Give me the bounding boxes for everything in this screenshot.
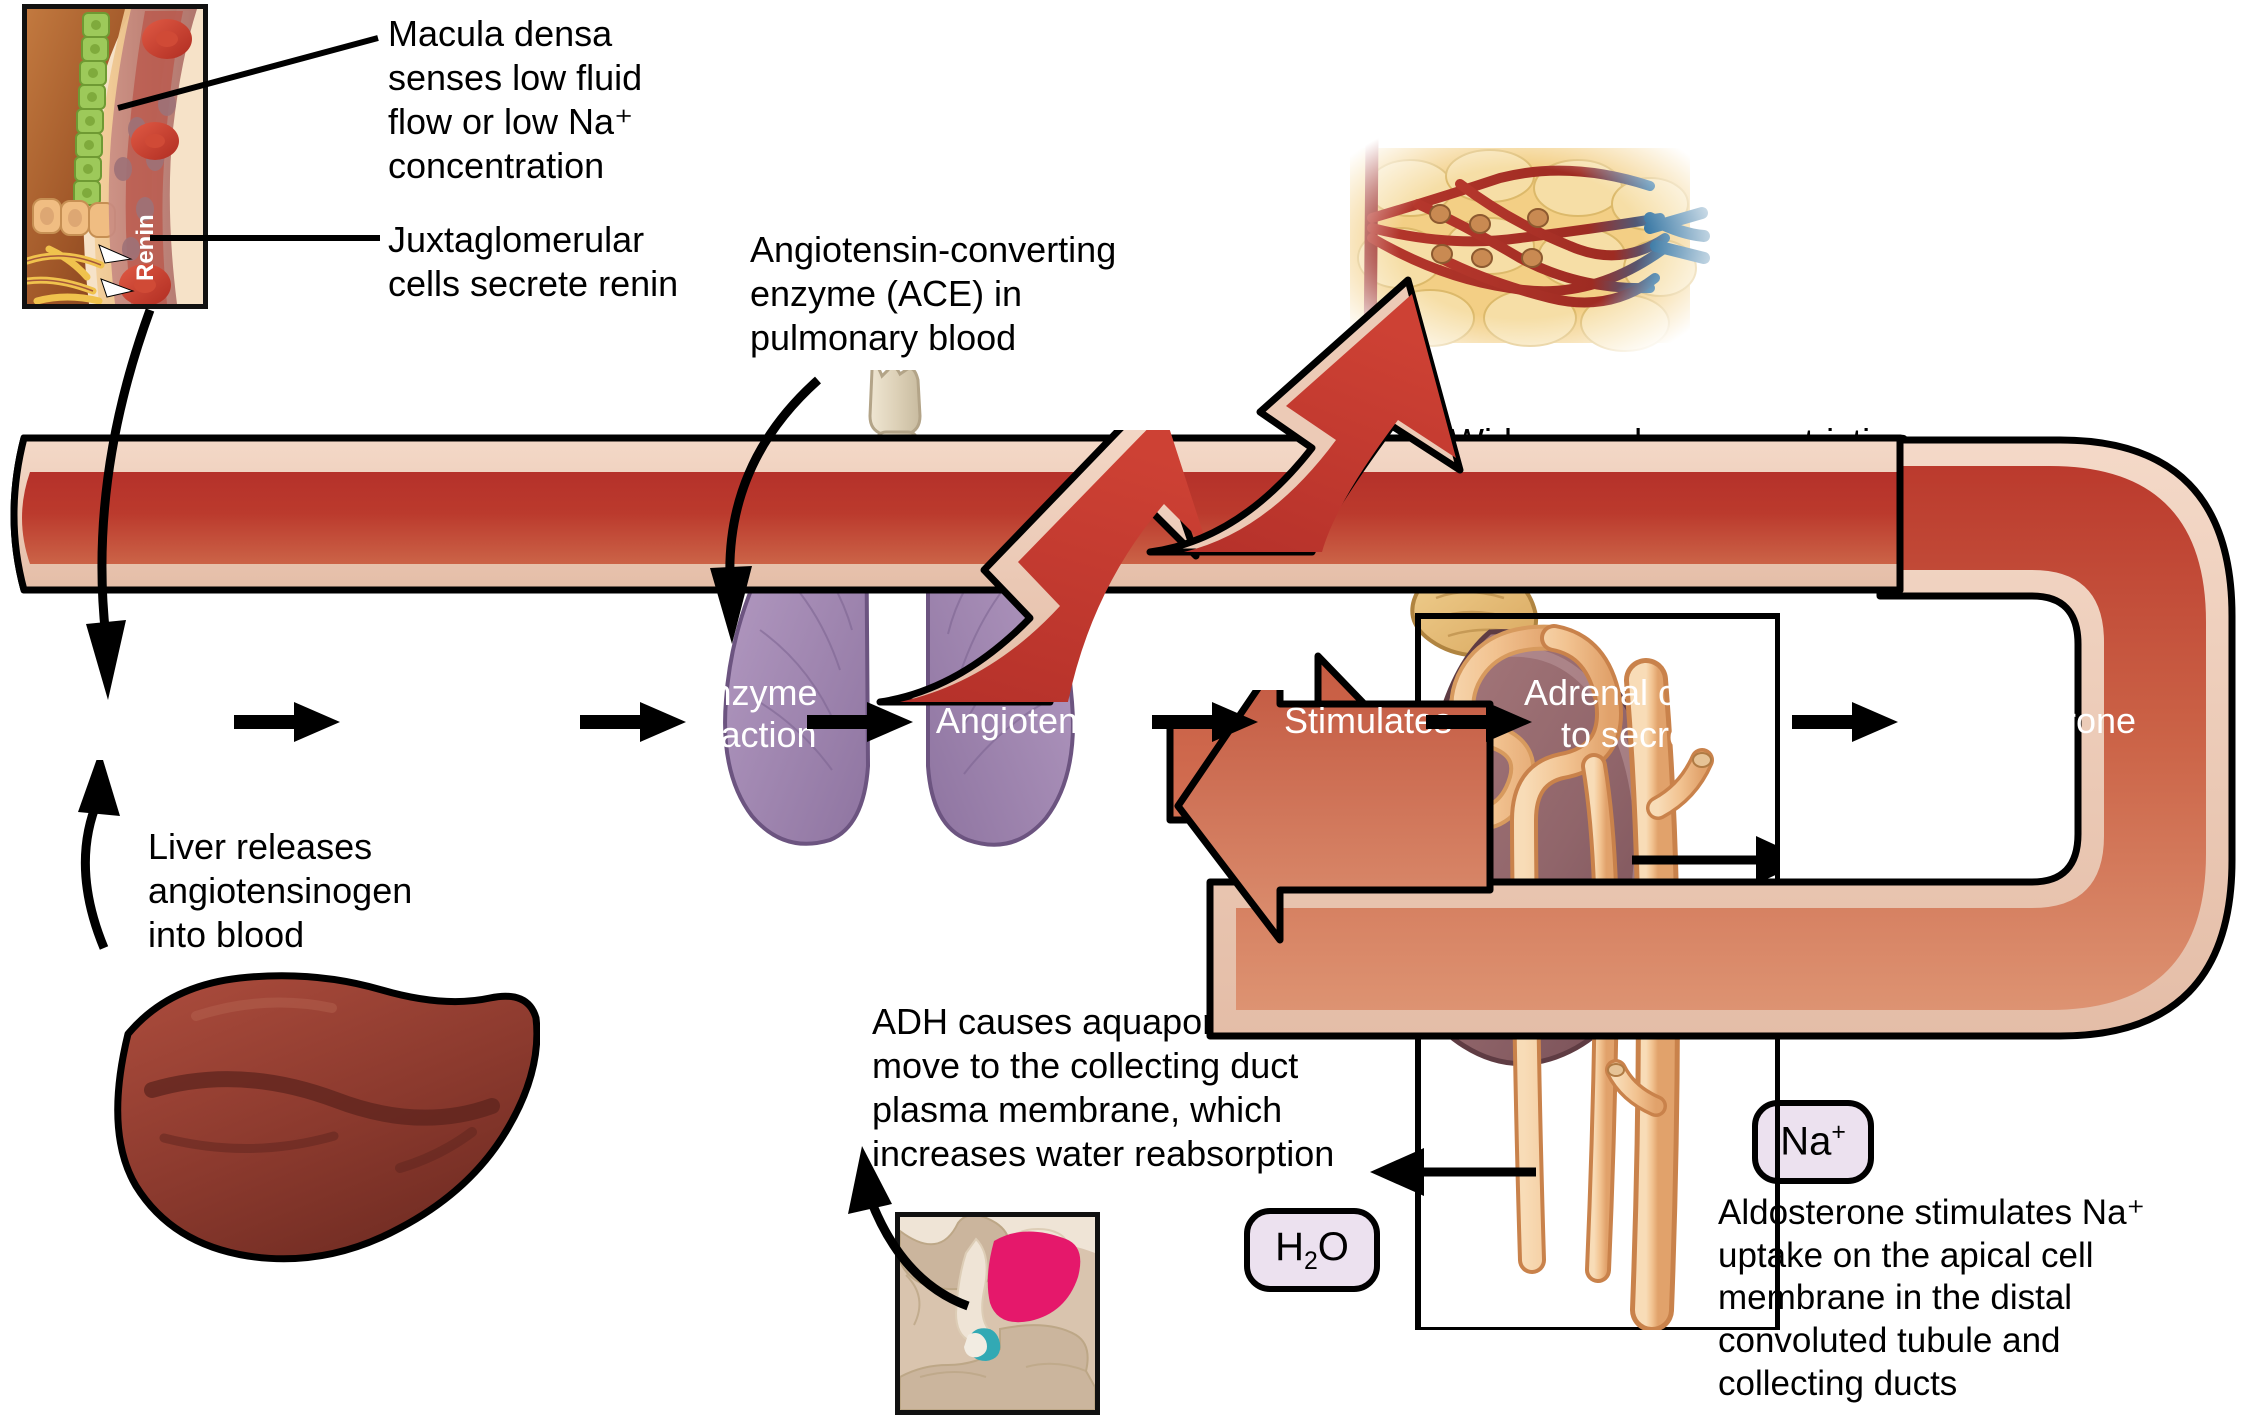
water-transport-arrow	[1370, 1148, 1536, 1196]
kidney-renin-arrow	[60, 300, 260, 720]
macula-densa-leader-line	[100, 20, 400, 130]
liver-angiotensinogen-arrow	[58, 760, 278, 980]
aldosterone-na-callout: Aldosterone stimulates Na⁺ uptake on the…	[1718, 1192, 2258, 1405]
ace-arrow	[690, 370, 870, 660]
blood-vessel-pipeline	[0, 430, 2258, 1100]
vasoconstriction-arrow-graphic	[1140, 260, 1560, 560]
macula-densa-callout: Macula densa senses low fluid flow or lo…	[388, 12, 808, 188]
ace-callout: Angiotensin-converting enzyme (ACE) in p…	[750, 228, 1200, 360]
rass-diagram: Renin Macula densa senses low fluid flow…	[0, 0, 2258, 1425]
juxtaglomerular-leader-line	[140, 218, 390, 258]
pipeline-step-adrenal-cortex: Adrenal cortex to secrete	[1500, 672, 1780, 756]
sodium-badge-label: Na+	[1780, 1119, 1846, 1164]
water-badge-label: H2O	[1275, 1225, 1349, 1276]
pipeline-step-aldosterone: Aldosterone	[1900, 700, 2180, 742]
adh-arrow	[810, 1110, 1010, 1330]
pipeline-arrow-6	[1790, 700, 1900, 744]
